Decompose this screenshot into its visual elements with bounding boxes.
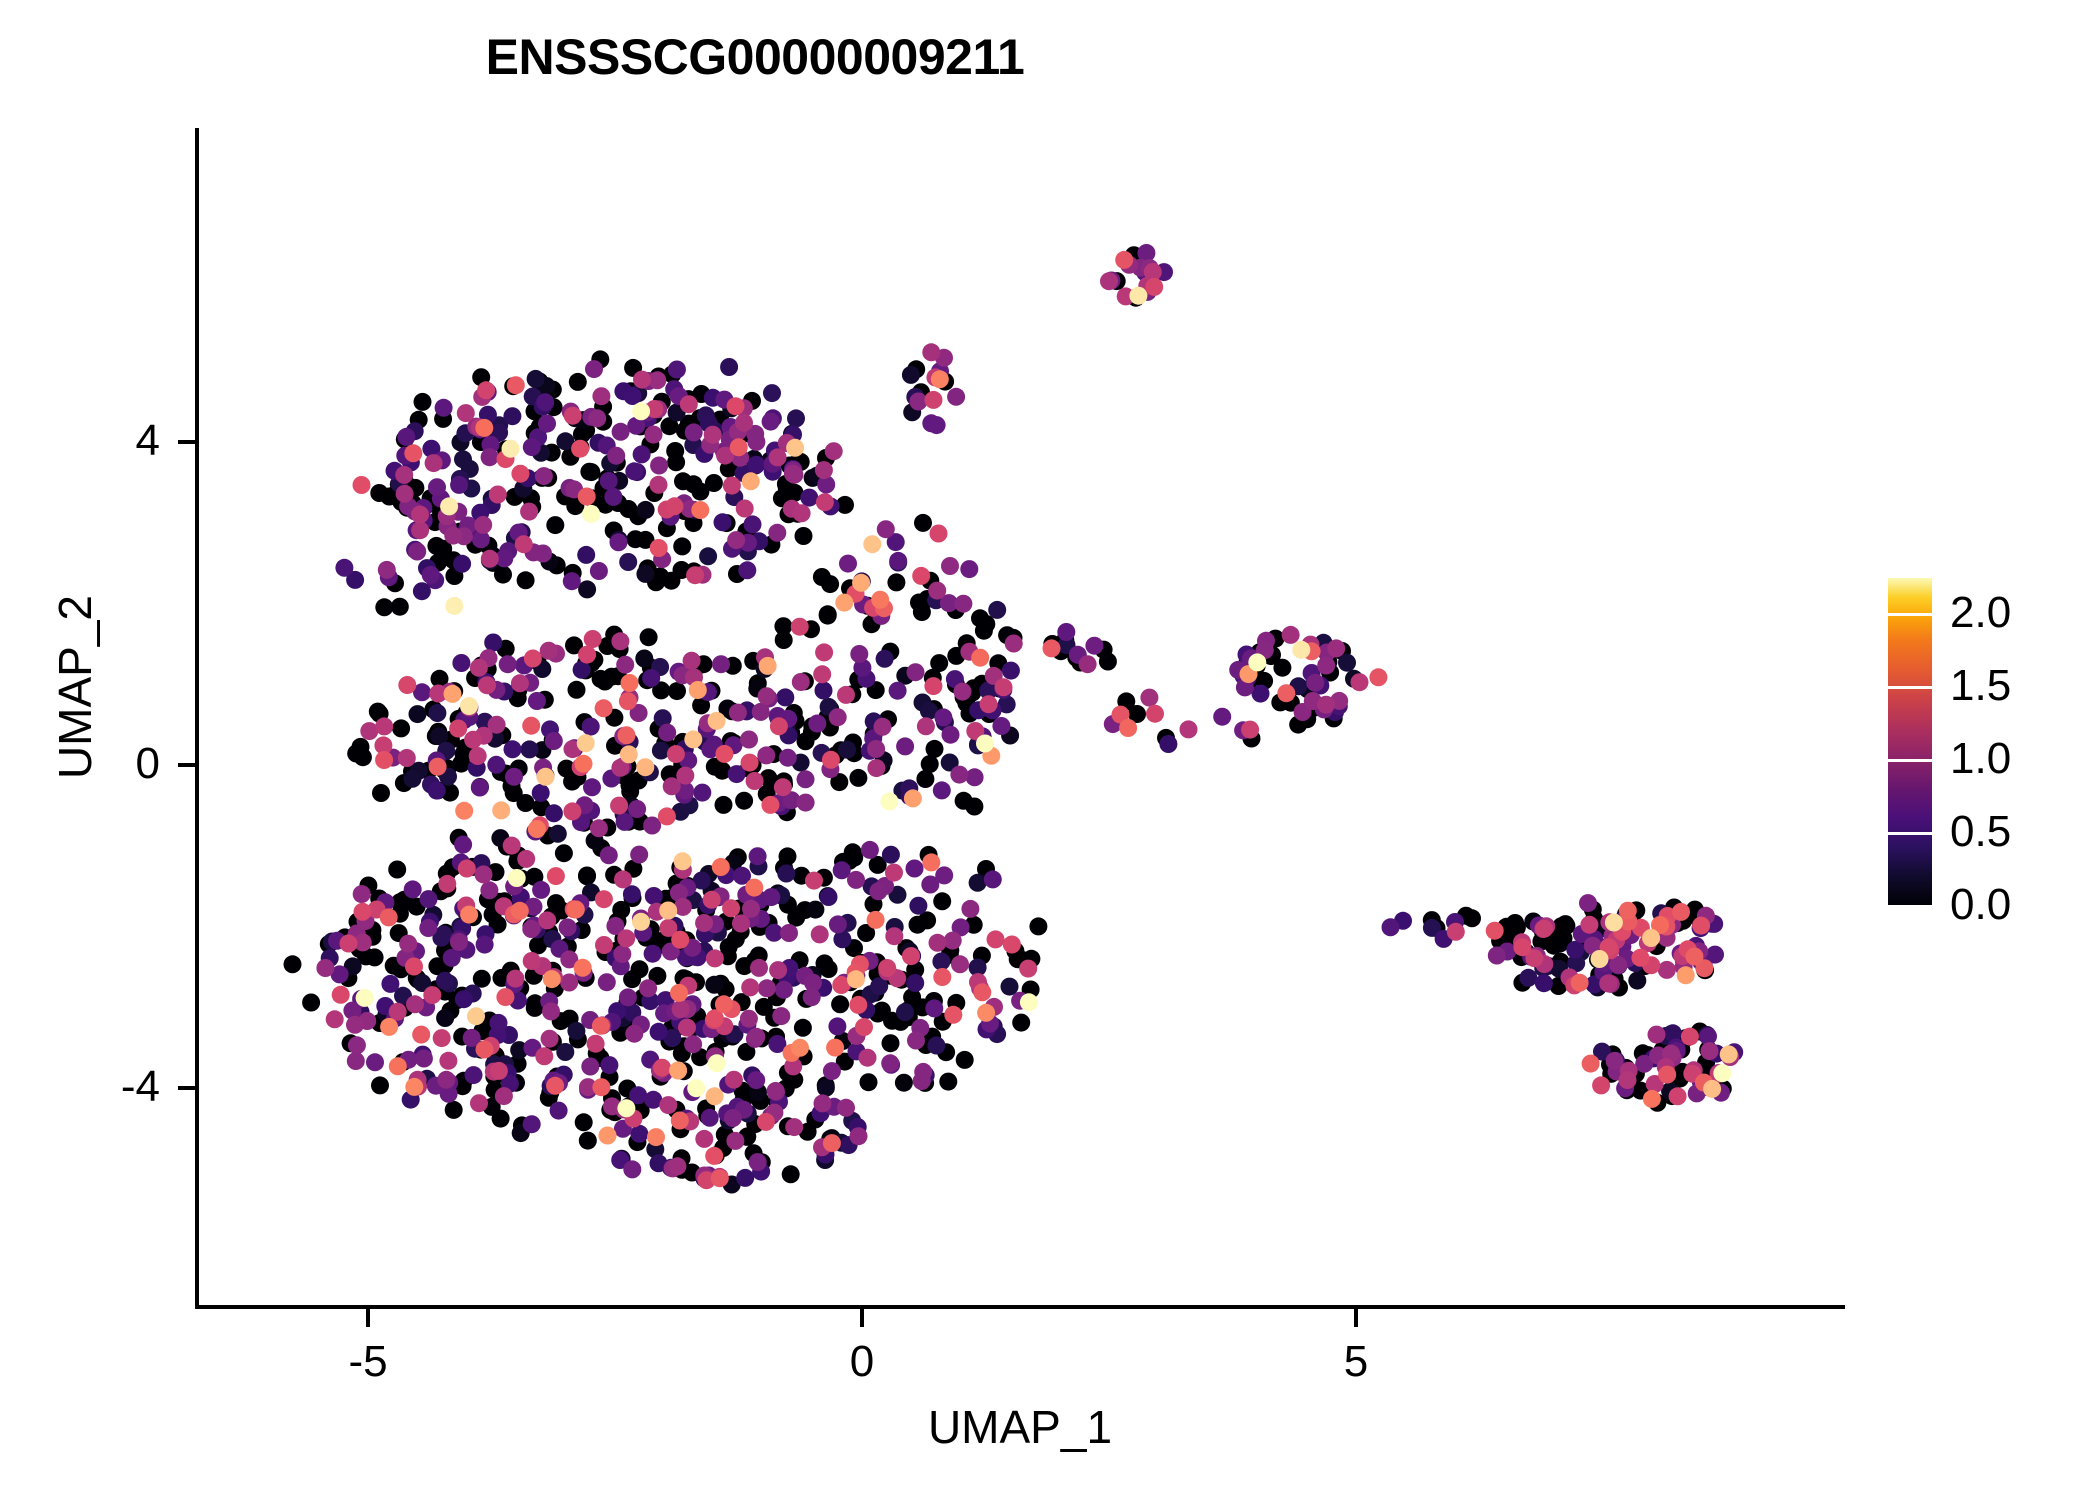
y-axis-tick-label: 4	[60, 419, 160, 463]
y-axis-tick-mark	[178, 440, 195, 444]
colorbar-tick-label: 1.5	[1950, 664, 2011, 708]
plot-panel	[199, 128, 1845, 1305]
colorbar-gradient	[1888, 578, 1932, 906]
colorbar-tick-label: 2.0	[1950, 591, 2011, 635]
y-axis-title: UMAP_2	[48, 507, 102, 867]
x-axis-tick-label: -5	[293, 1340, 443, 1384]
colorbar-tick-mark	[1888, 832, 1932, 835]
colorbar-tick-mark	[1888, 686, 1932, 689]
page-title: ENSSSCG00000009211	[0, 28, 1510, 86]
x-axis-tick-mark	[860, 1309, 864, 1327]
colorbar-tick-mark	[1888, 613, 1932, 616]
y-axis-line	[195, 128, 199, 1308]
colorbar-tick-mark	[1888, 759, 1932, 762]
scatter-points-layer	[199, 128, 1845, 1305]
x-axis-tick-mark	[1354, 1309, 1358, 1327]
y-axis-tick-mark	[178, 1086, 195, 1090]
colorbar-tick-label: 1.0	[1950, 737, 2011, 781]
x-axis-tick-mark	[366, 1309, 370, 1327]
x-axis-title: UMAP_1	[195, 1400, 1845, 1454]
x-axis-tick-label: 5	[1281, 1340, 1431, 1384]
colorbar-tick-label: 0.5	[1950, 810, 2011, 854]
x-axis-tick-label: 0	[787, 1340, 937, 1384]
y-axis-tick-mark	[178, 763, 195, 767]
umap-feature-plot: ENSSSCG00000009211 40-4 -505 UMAP_2 UMAP…	[0, 0, 2100, 1500]
x-axis-line	[195, 1305, 1845, 1309]
colorbar-tick-label: 0.0	[1950, 883, 2011, 927]
colorbar-tick-mark	[1888, 905, 1932, 908]
y-axis-tick-label: -4	[60, 1065, 160, 1109]
